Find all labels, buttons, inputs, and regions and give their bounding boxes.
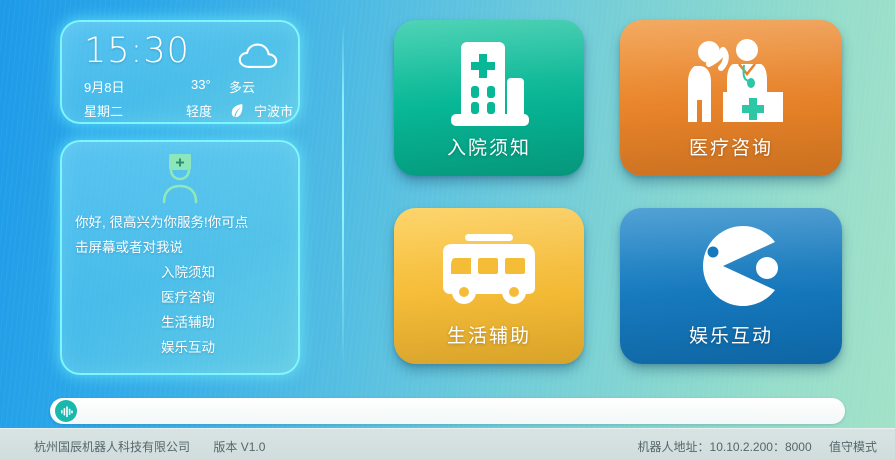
cloud-icon xyxy=(238,42,278,70)
tile-admission-label: 入院须知 xyxy=(394,133,584,160)
chat-greeting-line-1: 你好, 很高兴为你服务!你可点 xyxy=(62,210,298,235)
hospital-icon xyxy=(441,38,537,130)
robot-kiosk-screen: 15:30 9月8日 33° 多云 星期二 轻度 宁波市 xyxy=(0,0,895,460)
city-text: 宁波市 xyxy=(254,101,293,120)
tile-life-label: 生活辅助 xyxy=(394,321,584,348)
condition-text: 多云 xyxy=(229,77,255,96)
chat-option-life[interactable]: 生活辅助 xyxy=(62,310,298,335)
bus-icon xyxy=(437,230,541,318)
tile-life-assistance[interactable]: 生活辅助 xyxy=(394,208,584,364)
nurse-avatar-icon xyxy=(152,152,208,204)
chat-option-fun[interactable]: 娱乐互动 xyxy=(62,335,298,360)
tile-consult-label: 医疗咨询 xyxy=(620,133,842,160)
footer-right-group: 机器人地址：10.10.2.200：8000 值守模式 xyxy=(624,438,877,455)
robot-address-label: 机器人地址： xyxy=(638,440,710,454)
footer-left-group: 杭州国辰机器人科技有限公司 版本 V1.0 xyxy=(34,438,285,455)
vertical-divider xyxy=(342,22,344,372)
weather-widget[interactable]: 15:30 9月8日 33° 多云 星期二 轻度 宁波市 xyxy=(60,20,300,124)
chat-option-consult[interactable]: 医疗咨询 xyxy=(62,285,298,310)
main-stage: 15:30 9月8日 33° 多云 星期二 轻度 宁波市 xyxy=(0,0,895,428)
air-quality-text: 轻度 xyxy=(186,101,212,120)
assistant-chat-panel[interactable]: 你好, 很高兴为你服务!你可点 击屏幕或者对我说 入院须知 医疗咨询 生活辅助 … xyxy=(60,140,300,375)
tile-medical-consultation[interactable]: 医疗咨询 xyxy=(620,20,842,176)
clock-time: 15:30 xyxy=(84,31,190,71)
tile-entertainment[interactable]: 娱乐互动 xyxy=(620,208,842,364)
status-bar: 杭州国辰机器人科技有限公司 版本 V1.0 机器人地址：10.10.2.200：… xyxy=(0,428,895,460)
tile-fun-label: 娱乐互动 xyxy=(620,321,842,348)
chat-greeting-line-2: 击屏幕或者对我说 xyxy=(62,235,298,260)
voice-input-bar[interactable] xyxy=(50,398,845,424)
chat-message: 你好, 很高兴为你服务!你可点 击屏幕或者对我说 入院须知 医疗咨询 生活辅助 … xyxy=(62,210,298,360)
chat-option-admission[interactable]: 入院须知 xyxy=(62,260,298,285)
company-name: 杭州国辰机器人科技有限公司 xyxy=(34,440,190,454)
doctor-patient-icon xyxy=(673,38,789,130)
app-version: 版本 V1.0 xyxy=(213,440,265,454)
tile-admission-notice[interactable]: 入院须知 xyxy=(394,20,584,176)
temperature-text: 33° xyxy=(191,77,211,92)
robot-address-value: 10.10.2.200：8000 xyxy=(710,440,812,454)
weather-row-primary: 9月8日 33° 多云 xyxy=(62,77,298,97)
weather-row-secondary: 星期二 轻度 宁波市 xyxy=(62,101,298,121)
leaf-icon xyxy=(230,103,244,118)
date-text: 9月8日 xyxy=(84,77,124,96)
pacman-icon xyxy=(681,224,781,314)
voice-waveform-icon[interactable] xyxy=(55,400,77,422)
operating-mode: 值守模式 xyxy=(829,440,877,454)
weekday-text: 星期二 xyxy=(84,101,123,120)
